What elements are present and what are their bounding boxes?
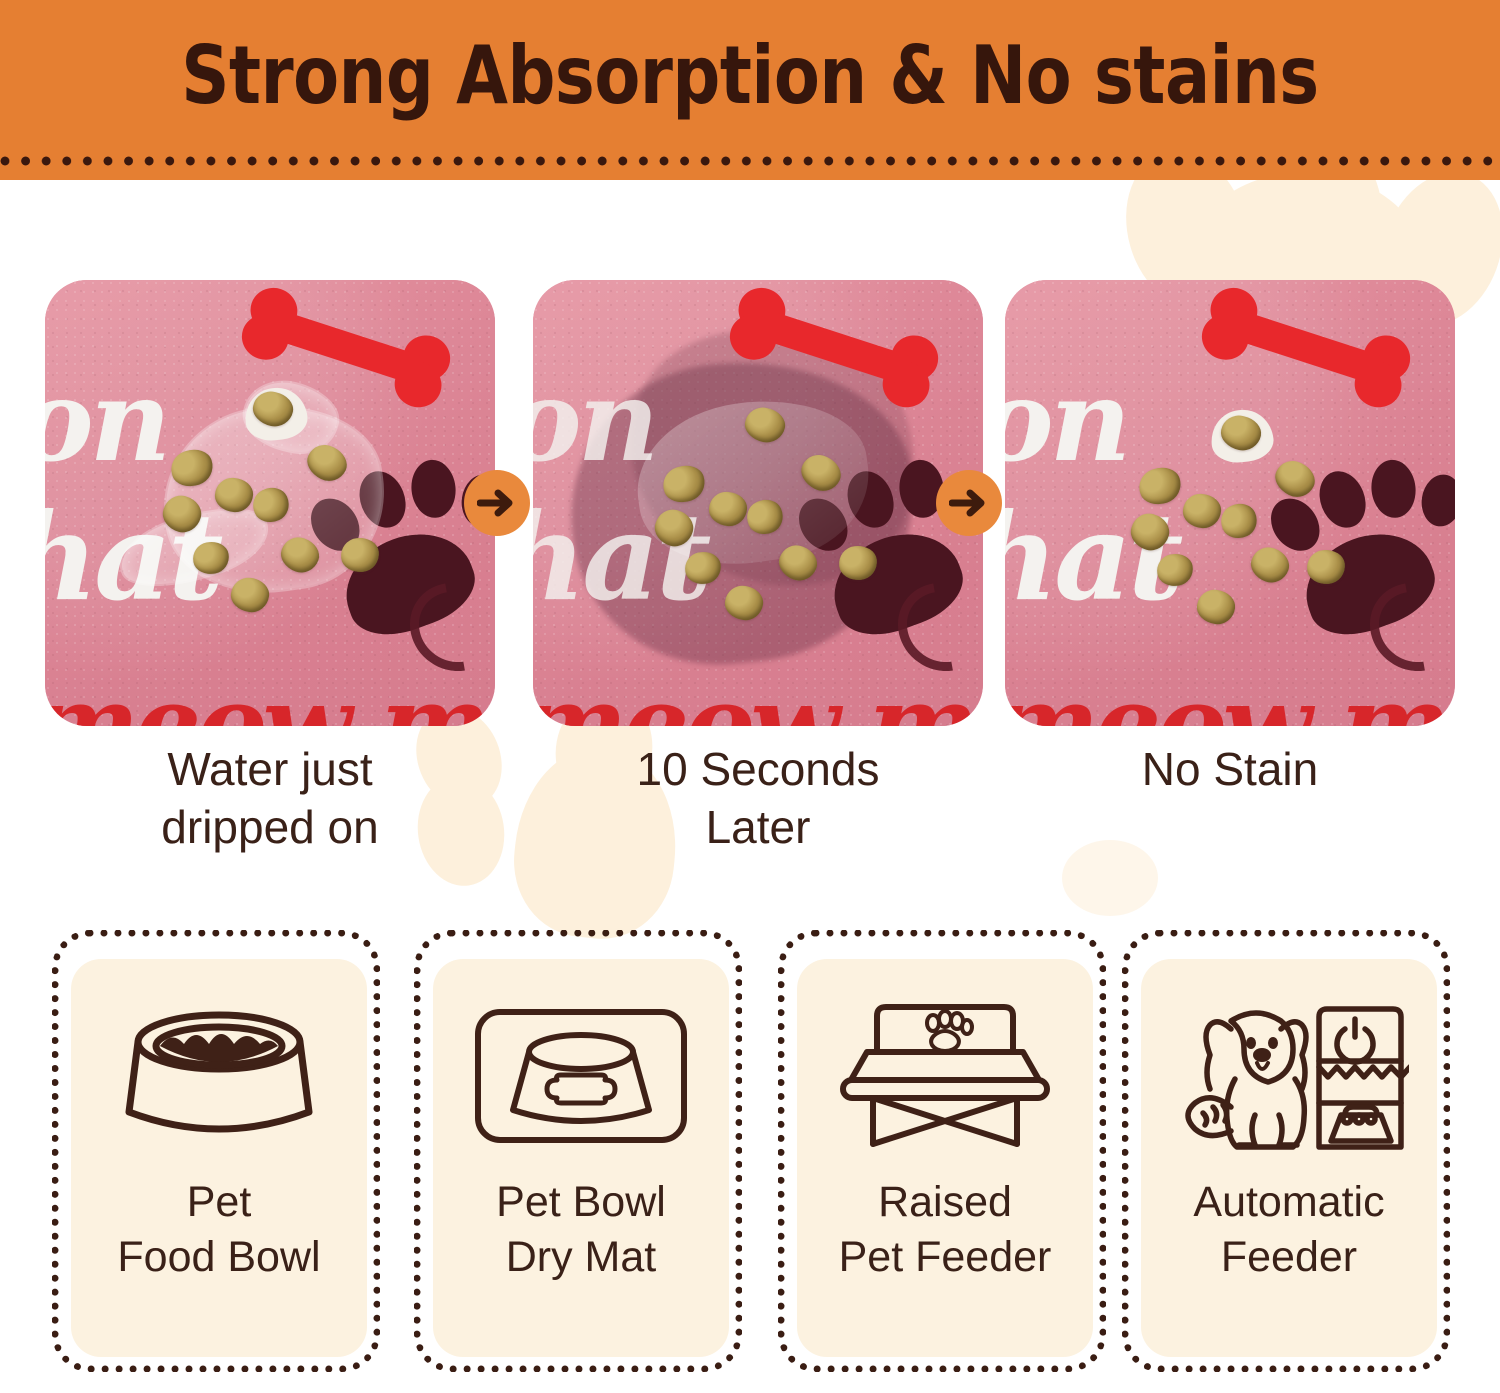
use-case-label: Pet Bowl Dry Mat xyxy=(496,1175,666,1285)
use-case-card-automatic-feeder[interactable]: Automatic Feeder xyxy=(1122,930,1450,1372)
use-case-card-pet-bowl-dry-mat[interactable]: Pet Bowl Dry Mat xyxy=(414,930,742,1372)
header-banner: Strong Absorption & No stains xyxy=(0,0,1500,180)
mat-text-on: on xyxy=(533,366,655,478)
label-line: Pet xyxy=(117,1175,320,1230)
mat-text-on: on xyxy=(45,366,167,478)
use-case-card-pet-food-bowl[interactable]: Pet Food Bowl xyxy=(52,930,380,1372)
absorption-demo-row: on hat meow meo on hat meow meo xyxy=(45,280,1455,726)
automatic-feeder-icon xyxy=(1169,985,1409,1167)
page-title: Strong Absorption & No stains xyxy=(53,26,1448,126)
paw-print-watermark xyxy=(1062,840,1158,916)
label-line: Feeder xyxy=(1193,1230,1384,1285)
caption-line: No Stain xyxy=(1005,740,1455,798)
caption-line: dripped on xyxy=(45,798,495,856)
header-dotted-divider xyxy=(0,155,1500,167)
caption-water-dripped: Water just dripped on xyxy=(45,740,495,856)
label-line: Dry Mat xyxy=(496,1230,666,1285)
pet-bowl-dry-mat-icon xyxy=(473,985,689,1167)
caption-line: 10 Seconds xyxy=(533,740,983,798)
demo-photo-water-dripped: on hat meow meo xyxy=(45,280,495,726)
label-line: Pet Feeder xyxy=(839,1230,1052,1285)
use-case-cards: Pet Food Bowl xyxy=(52,930,1452,1372)
label-line: Automatic xyxy=(1193,1175,1384,1230)
demo-photo-10-seconds-later: on hat meow meo xyxy=(533,280,983,726)
mat-text-on: on xyxy=(1005,366,1127,478)
label-line: Pet Bowl xyxy=(496,1175,666,1230)
paw-swirl-graphic xyxy=(1359,576,1455,686)
caption-10-seconds-later: 10 Seconds Later xyxy=(533,740,983,856)
use-case-card-raised-pet-feeder[interactable]: Raised Pet Feeder xyxy=(778,930,1106,1372)
label-line: Food Bowl xyxy=(117,1230,320,1285)
paw-swirl-graphic xyxy=(887,576,983,686)
caption-line: Water just xyxy=(45,740,495,798)
use-case-label: Automatic Feeder xyxy=(1193,1175,1384,1285)
arrow-right-icon xyxy=(464,470,530,536)
pet-food-bowl-icon xyxy=(116,985,322,1167)
paw-swirl-graphic xyxy=(399,576,495,686)
demo-photo-no-stain: on hat meow meo xyxy=(1005,280,1455,726)
caption-no-stain: No Stain xyxy=(1005,740,1455,798)
label-line: Raised xyxy=(839,1175,1052,1230)
use-case-label: Raised Pet Feeder xyxy=(839,1175,1052,1285)
arrow-right-icon xyxy=(936,470,1002,536)
raised-pet-feeder-icon xyxy=(837,985,1053,1167)
use-case-label: Pet Food Bowl xyxy=(117,1175,320,1285)
caption-line: Later xyxy=(533,798,983,856)
